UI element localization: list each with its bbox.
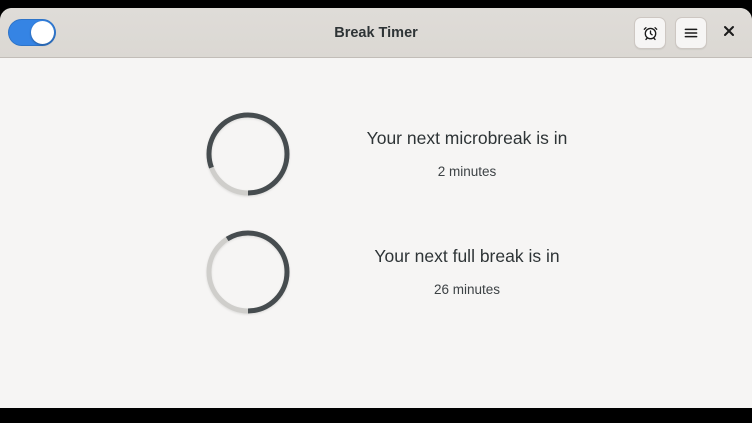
close-icon — [723, 24, 735, 42]
alarm-clock-icon — [642, 24, 659, 41]
microbreak-ring-svg — [202, 108, 294, 200]
microbreak-timer-row: Your next microbreak is in 2 minutes — [0, 108, 592, 200]
alarm-clock-button[interactable] — [634, 17, 666, 49]
fullbreak-progress-ring — [188, 226, 308, 318]
fullbreak-label: Your next full break is in — [342, 246, 592, 267]
break-timer-window: Break Timer — [0, 8, 752, 408]
hamburger-menu-button[interactable] — [675, 17, 707, 49]
fullbreak-labels: Your next full break is in 26 minutes — [342, 246, 592, 298]
content-area: Your next microbreak is in 2 minutes You… — [0, 58, 752, 407]
microbreak-label: Your next microbreak is in — [342, 128, 592, 149]
hamburger-menu-icon — [683, 25, 699, 41]
toggle-knob — [31, 21, 54, 44]
titlebar: Break Timer — [0, 8, 752, 58]
fullbreak-ring-svg — [202, 226, 294, 318]
close-button[interactable] — [716, 20, 742, 46]
microbreak-labels: Your next microbreak is in 2 minutes — [342, 128, 592, 180]
fullbreak-timer-row: Your next full break is in 26 minutes — [0, 226, 592, 318]
fullbreak-time-remaining: 26 minutes — [342, 282, 592, 298]
microbreak-progress-ring — [188, 108, 308, 200]
titlebar-left-controls — [0, 19, 56, 46]
enable-breaks-toggle[interactable] — [8, 19, 56, 46]
titlebar-right-controls — [634, 17, 752, 49]
microbreak-time-remaining: 2 minutes — [342, 164, 592, 180]
